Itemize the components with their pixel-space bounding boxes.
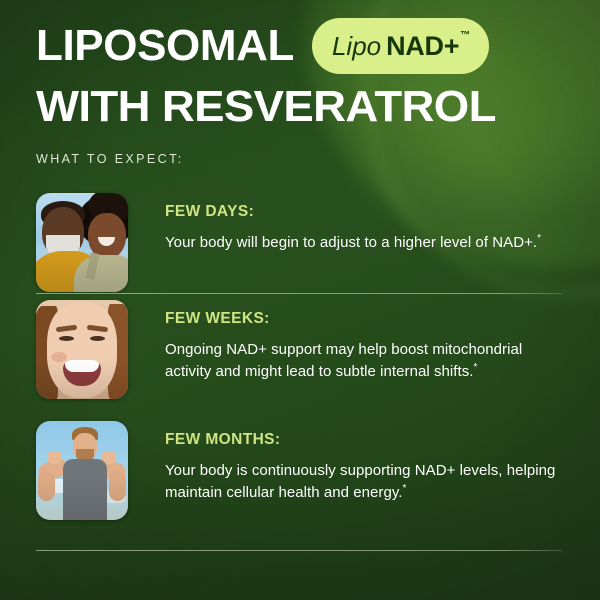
photo-illustration: [36, 300, 128, 399]
list-item-body: Ongoing NAD+ support may help boost mito…: [165, 339, 564, 383]
woman-smiling-photo: [36, 300, 128, 399]
list-item-body: Your body is continuously supporting NAD…: [165, 460, 564, 504]
couple-laughing-photo: [36, 193, 128, 292]
list-item-body-text: Ongoing NAD+ support may help boost mito…: [165, 341, 522, 380]
photo-illustration: [36, 421, 128, 520]
brand-word-lipo: Lipo: [332, 31, 381, 62]
footnote-marker: *: [403, 483, 407, 494]
brand-word-nad: NAD+: [386, 31, 459, 62]
poster-content: LIPOSOMAL Lipo NAD+ ™ WITH RESVERATROL W…: [0, 0, 600, 600]
list-item-body-text: Your body is continuously supporting NAD…: [165, 462, 555, 501]
list-item-text: FEW MONTHS: Your body is continuously su…: [165, 421, 564, 504]
list-item: FEW DAYS: Your body will begin to adjust…: [0, 185, 600, 292]
photo-illustration: [36, 193, 128, 292]
trademark-icon: ™: [460, 30, 470, 41]
footnote-marker: *: [474, 362, 478, 373]
list-item-text: FEW DAYS: Your body will begin to adjust…: [165, 193, 564, 254]
list-item: FEW MONTHS: Your body is continuously su…: [0, 399, 600, 520]
list-item-text: FEW WEEKS: Ongoing NAD+ support may help…: [165, 300, 564, 383]
section-eyebrow-label: WHAT TO EXPECT:: [36, 152, 184, 166]
row-divider: [36, 550, 562, 551]
headline-row-1: LIPOSOMAL Lipo NAD+ ™: [36, 18, 566, 74]
brand-badge: Lipo NAD+ ™: [312, 18, 489, 74]
list-item-body: Your body will begin to adjust to a high…: [165, 232, 564, 254]
list-item-heading: FEW MONTHS:: [165, 431, 564, 449]
list-item-heading: FEW DAYS:: [165, 203, 564, 221]
headline-line-2: WITH RESVERATROL: [36, 85, 585, 129]
footnote-marker: *: [537, 233, 541, 244]
list-item-heading: FEW WEEKS:: [165, 310, 564, 328]
headline-line-1: LIPOSOMAL: [36, 24, 294, 68]
list-item-body-text: Your body will begin to adjust to a high…: [165, 234, 537, 251]
list-item: FEW WEEKS: Ongoing NAD+ support may help…: [0, 292, 600, 399]
promo-poster: LIPOSOMAL Lipo NAD+ ™ WITH RESVERATROL W…: [0, 0, 600, 600]
man-flexing-photo: [36, 421, 128, 520]
expectation-list: FEW DAYS: Your body will begin to adjust…: [0, 185, 600, 520]
headline-block: LIPOSOMAL Lipo NAD+ ™ WITH RESVERATROL: [36, 18, 566, 129]
